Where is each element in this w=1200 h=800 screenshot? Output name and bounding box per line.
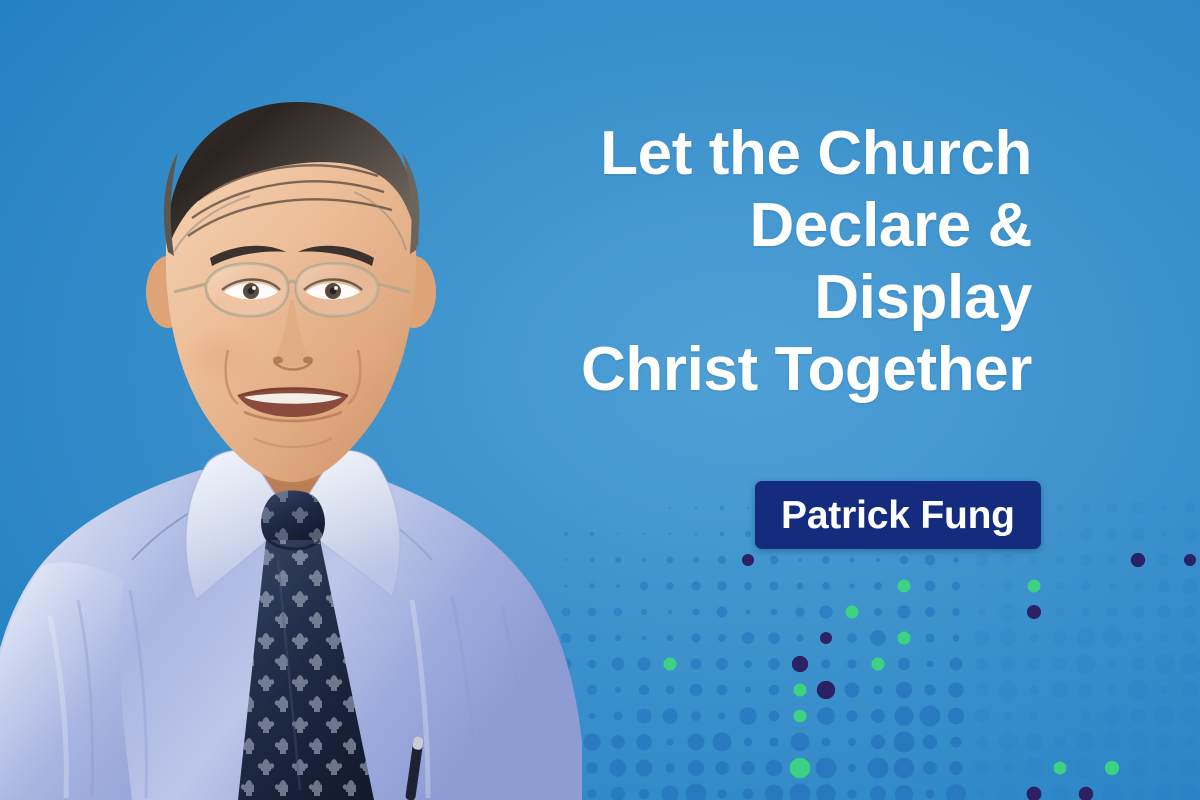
page-title: Let the Church Declare & Display Christ … — [392, 118, 1032, 406]
title-line-4: Christ Together — [392, 334, 1032, 406]
speaker-name-label: Patrick Fung — [781, 496, 1015, 535]
title-line-2: Declare & — [392, 190, 1032, 262]
speaker-banner: Let the Church Declare & Display Christ … — [0, 0, 1200, 800]
title-line-1: Let the Church — [392, 118, 1032, 190]
speaker-name-badge: Patrick Fung — [755, 481, 1041, 549]
title-line-3: Display — [392, 262, 1032, 334]
